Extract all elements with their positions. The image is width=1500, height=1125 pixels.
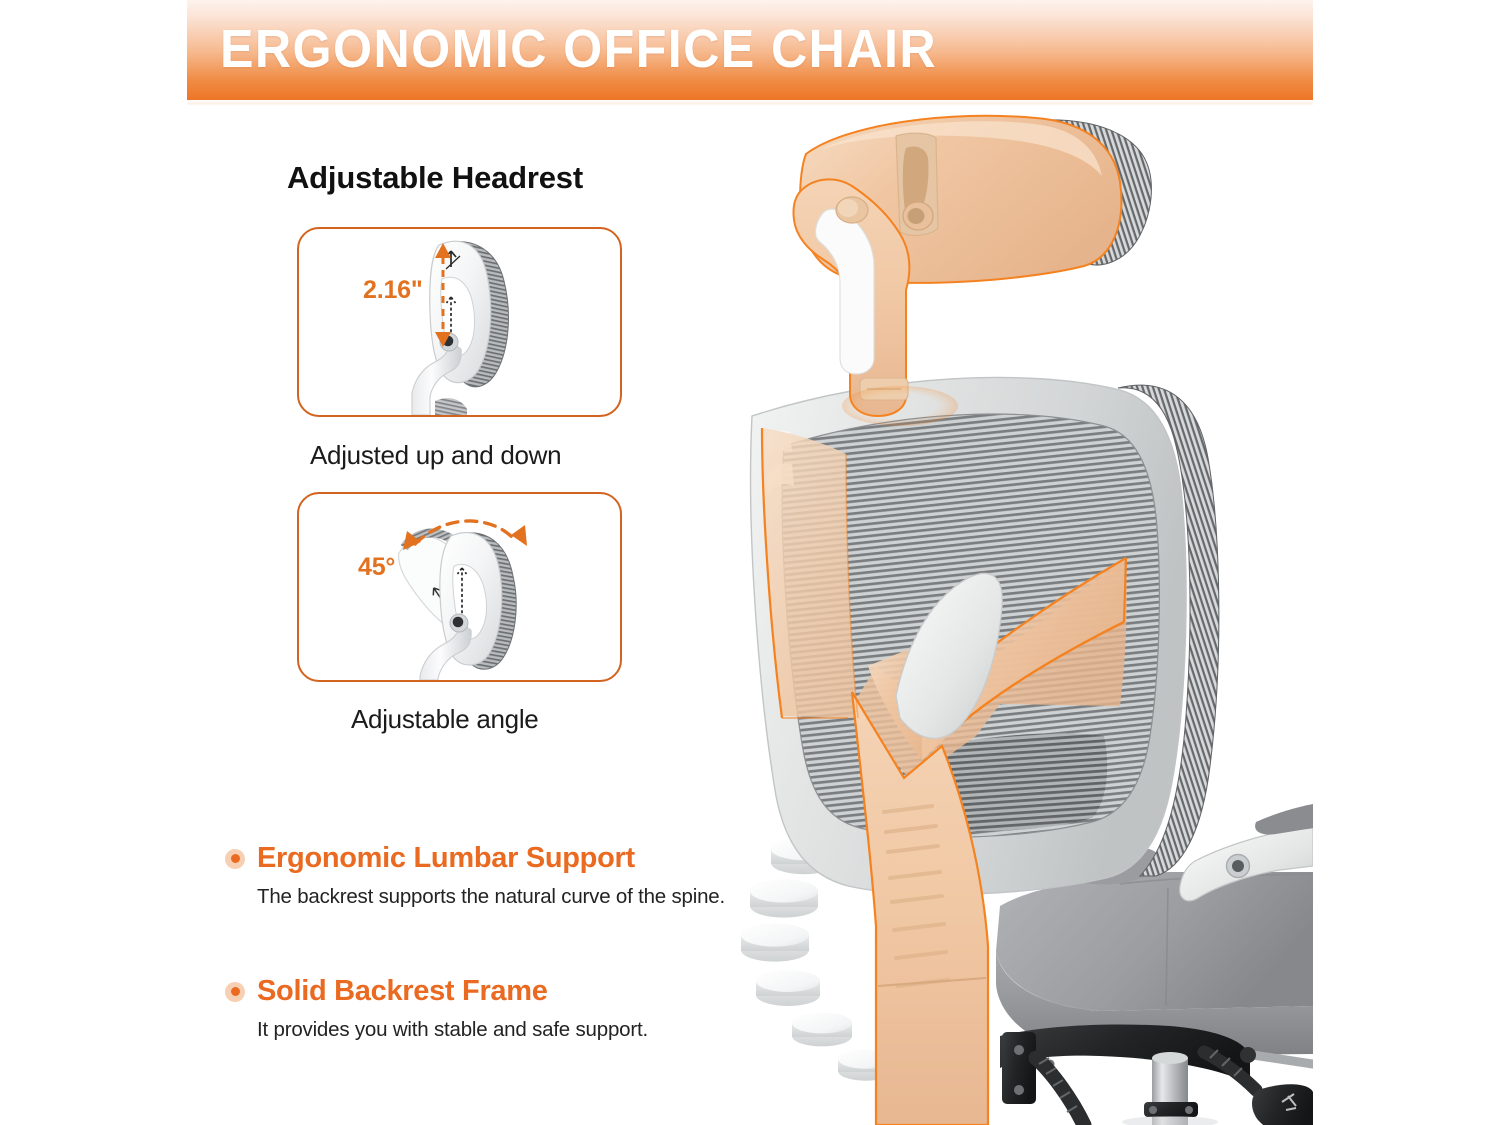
bullet-description: The backrest supports the natural curve …	[257, 882, 727, 911]
feature-card-height-adjust	[297, 227, 622, 417]
seat-cushion-top	[996, 872, 1313, 1011]
angle-value-label: 45°	[358, 553, 395, 582]
headrest-angle-diagram	[299, 494, 620, 680]
bullet-point-icon	[225, 982, 245, 1002]
height-adjust-lever	[1252, 1084, 1313, 1125]
bullet-title: Solid Backrest Frame	[257, 975, 548, 1008]
page-title: ERGONOMIC OFFICE CHAIR	[220, 16, 937, 82]
height-value-label: 2.16"	[363, 276, 423, 305]
bullet-title: Ergonomic Lumbar Support	[257, 842, 635, 875]
spine-disc	[750, 879, 818, 917]
headrest-height-diagram	[299, 229, 620, 415]
bullet-description: It provides you with stable and safe sup…	[257, 1015, 727, 1044]
spine-disc	[756, 970, 820, 1006]
section-heading-adjustable-headrest: Adjustable Headrest	[287, 160, 583, 196]
bullet-point-icon	[225, 849, 245, 869]
card-caption-height: Adjusted up and down	[310, 440, 561, 471]
card-caption-angle: Adjustable angle	[351, 704, 538, 735]
tilt-lever-bar	[1246, 1054, 1313, 1064]
spine-disc	[741, 923, 809, 961]
product-photo-office-chair	[700, 106, 1313, 1125]
chair-illustration	[700, 106, 1313, 1125]
spine-disc	[792, 1013, 852, 1047]
feature-card-angle-adjust	[297, 492, 622, 682]
infographic-page: ERGONOMIC OFFICE CHAIR Adjustable Headre…	[0, 0, 1500, 1125]
